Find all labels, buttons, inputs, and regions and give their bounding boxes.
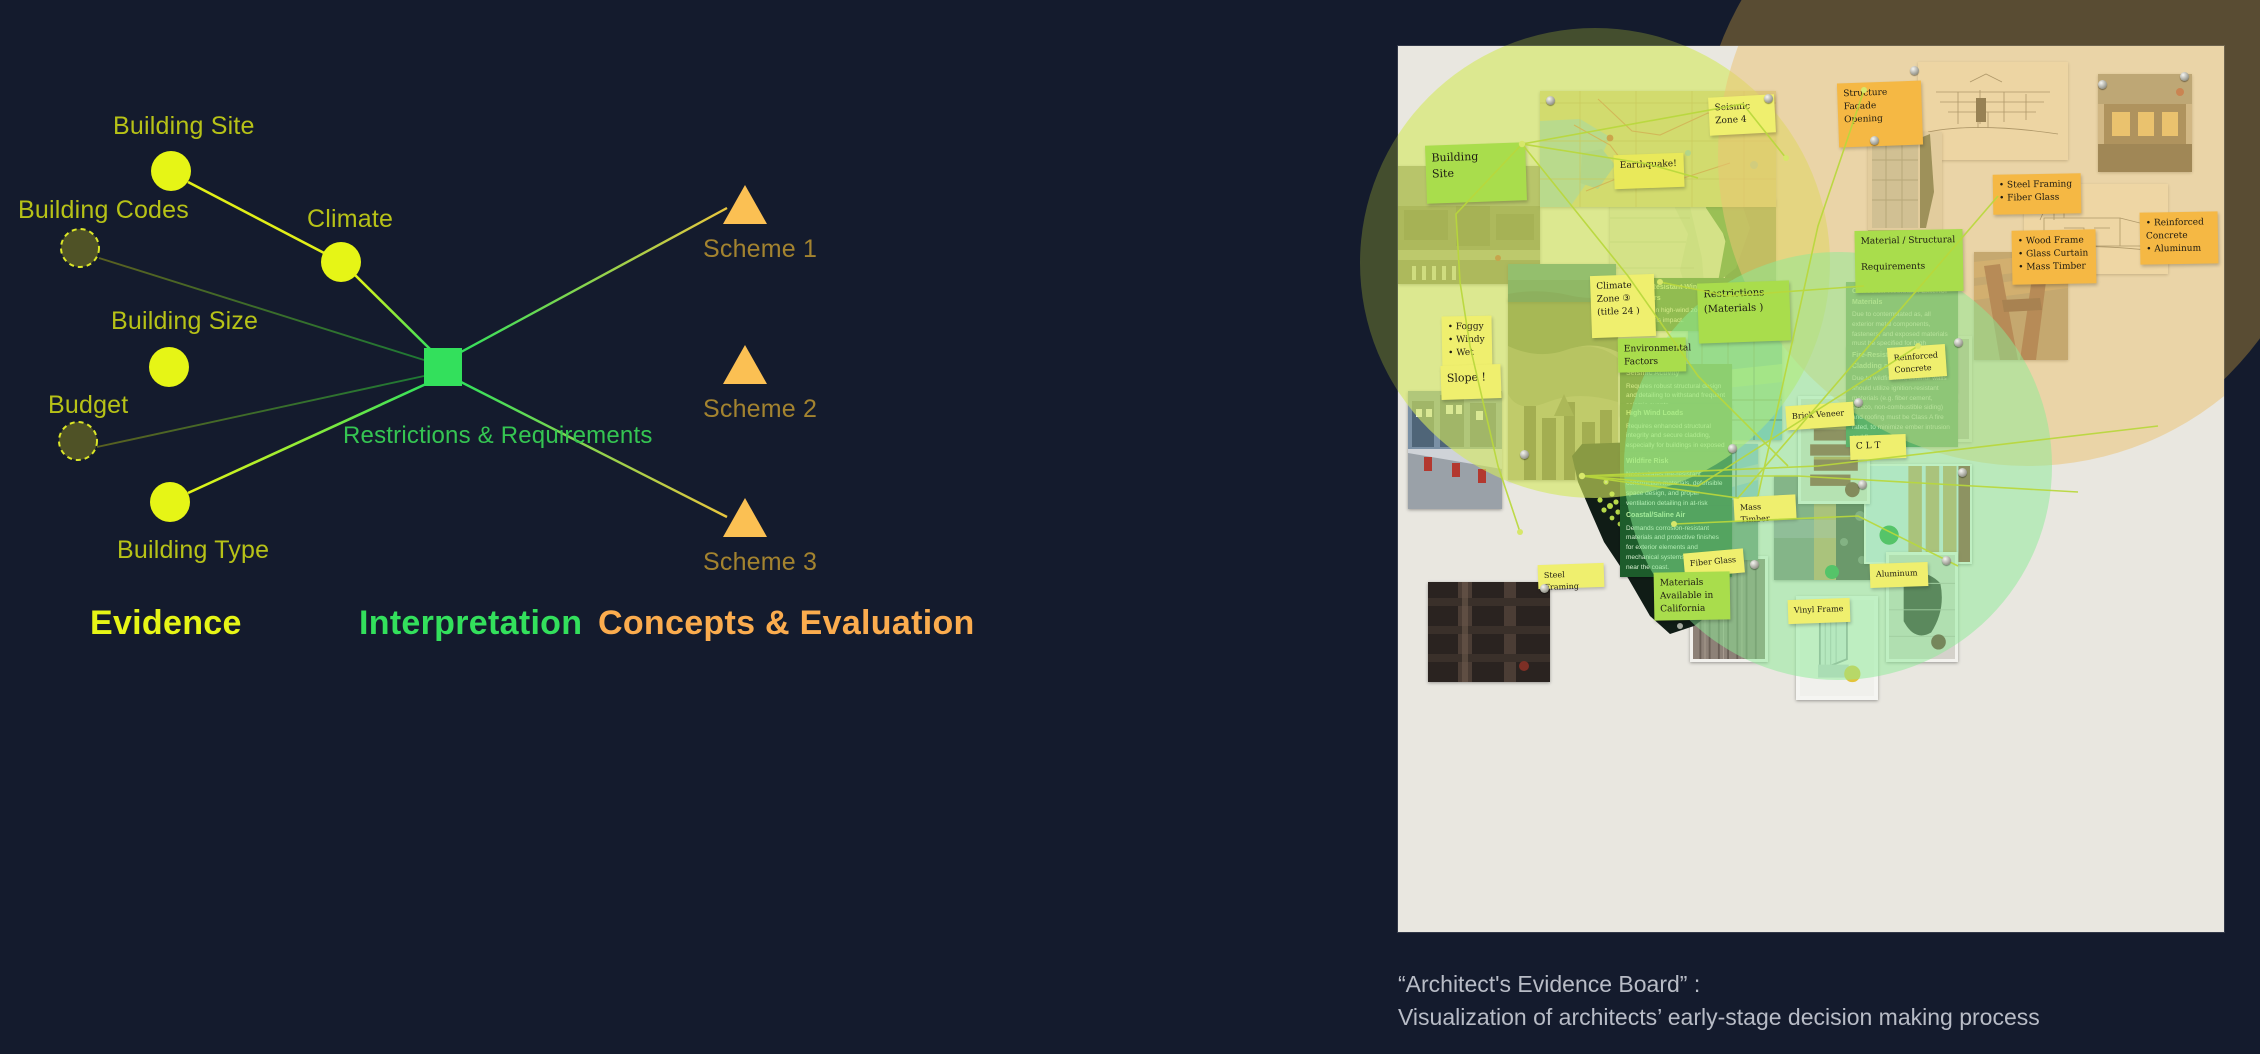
pin-9 — [1954, 338, 1963, 347]
pin-14 — [1750, 560, 1759, 569]
node-label-scheme-1: Scheme 1 — [703, 235, 817, 264]
pin-15 — [1540, 584, 1549, 593]
diagram-edges — [0, 0, 960, 1054]
thread-lines — [1398, 46, 2224, 932]
legend-interpretation: Interpretation — [359, 604, 582, 643]
evidence-board-surface: CALIFORNIA Sacramento Los Angeles — [1398, 46, 2224, 932]
pin-13 — [1942, 556, 1951, 565]
node-label-climate: Climate — [307, 205, 393, 234]
node-label-building-size: Building Size — [111, 307, 258, 336]
node-label-scheme-3: Scheme 3 — [703, 548, 817, 577]
pin-12 — [1858, 480, 1867, 489]
node-label-budget: Budget — [48, 391, 128, 420]
pin-8 — [1728, 444, 1737, 453]
node-label-scheme-2: Scheme 2 — [703, 395, 817, 424]
pin-10 — [1854, 398, 1863, 407]
evidence-board-photo: CALIFORNIA Sacramento Los Angeles — [1398, 46, 2224, 932]
pin-6 — [1870, 136, 1879, 145]
node-label-restrictions-requirements: Restrictions & Requirements — [343, 420, 543, 452]
pin-4 — [2098, 80, 2107, 89]
legend-concepts-evaluation: Concepts & Evaluation — [598, 604, 975, 643]
pin-11 — [1958, 468, 1967, 477]
node-label-building-type: Building Type — [117, 536, 269, 565]
node-label-building-site: Building Site — [113, 112, 255, 141]
node-label-building-codes: Building Codes — [18, 196, 189, 225]
screenshot-root: Building Site Building Codes Climate Bui… — [0, 0, 2260, 1054]
pin-2 — [1764, 94, 1773, 103]
pin-1 — [1546, 96, 1555, 105]
legend-evidence: Evidence — [90, 604, 242, 643]
pin-7 — [1520, 450, 1529, 459]
pin-3 — [1910, 66, 1919, 75]
photo-caption: “Architect's Evidence Board” : Visualiza… — [1398, 968, 2040, 1035]
pin-5 — [2180, 72, 2189, 81]
evidence-interpretation-diagram: Building Site Building Codes Climate Bui… — [0, 0, 960, 1054]
